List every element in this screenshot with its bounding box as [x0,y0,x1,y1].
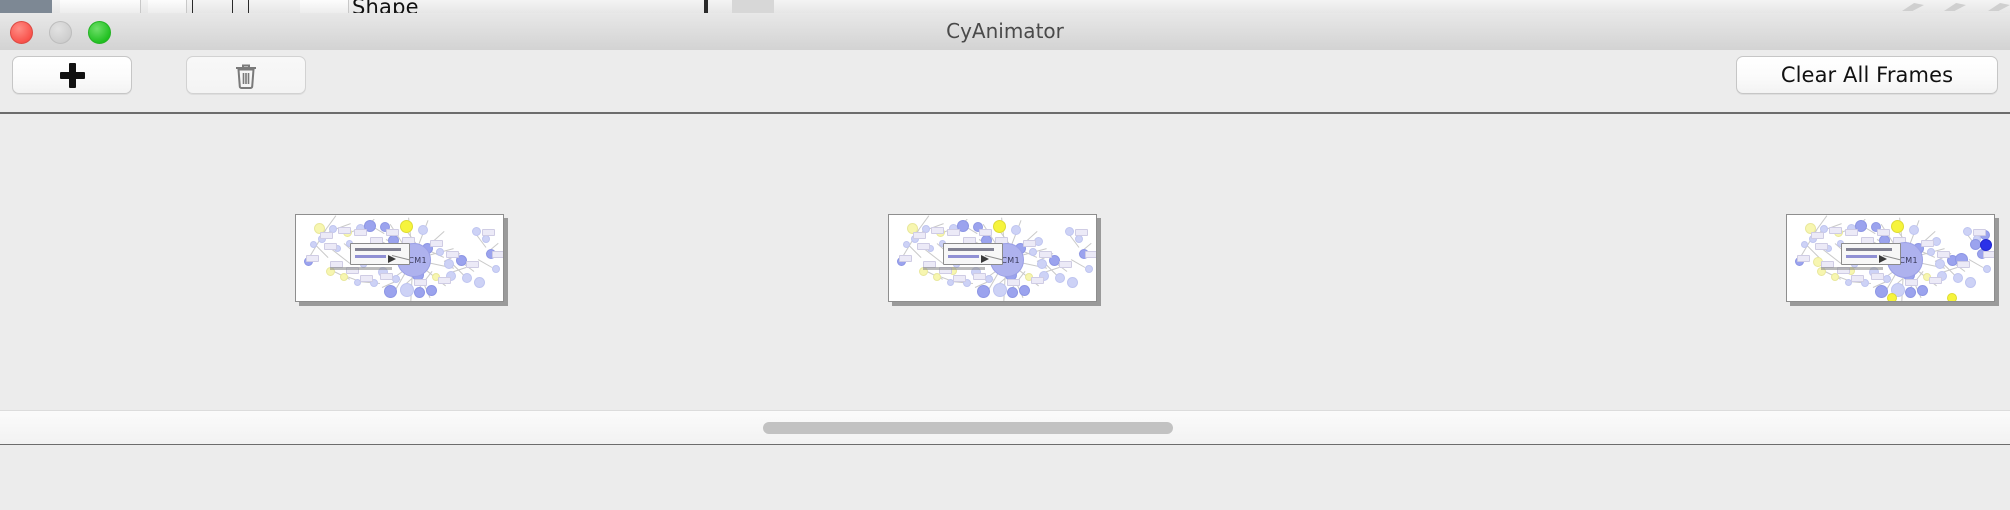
callout-text-line [355,248,401,251]
add-frame-button[interactable] [12,56,132,94]
network-node [993,283,1007,297]
timeline-scrollbar[interactable] [0,410,2010,446]
network-node-label [1039,251,1052,258]
background-window-cell [60,0,141,13]
network-node [474,277,485,288]
network-node-label [1983,251,1995,258]
network-node [1801,241,1808,248]
callout-text-line [355,255,386,258]
timeline-panel[interactable]: MCM1MCM1MCM1 2131415161718 Seconds [0,114,2010,410]
network-edge [478,259,492,268]
network-node-label [1059,261,1072,268]
background-window-cell [148,0,187,13]
network-node [1965,277,1976,288]
network-node [1085,265,1093,273]
network-node [985,275,993,283]
network-node-label [386,229,399,236]
chevron-icon [1902,3,1924,11]
plus-icon [60,63,85,88]
network-node [1011,225,1021,235]
network-node-label [466,261,479,268]
background-window-tick [232,0,233,13]
network-thumbnail-graph: MCM1 [296,215,503,301]
network-node-label [360,275,373,282]
network-thumbnail-graph: MCM1 [1787,215,1994,301]
network-node-label [953,275,966,282]
network-node-label [1007,279,1020,286]
network-node-label [899,255,912,262]
callout-text-line [1846,255,1877,258]
background-window-selected-cell [0,0,52,13]
network-node-label [931,227,944,234]
network-node [1909,225,1919,235]
background-window-blob [732,0,774,13]
keyframe-thumbnail[interactable]: MCM1 [1786,214,1995,302]
playback-bar: Animation Speed: [0,445,2010,510]
network-node-label [492,251,504,258]
network-node [1935,259,1945,269]
network-node-label [438,277,451,284]
network-node [472,227,481,236]
network-node [1065,227,1074,236]
background-window-label: Shape [352,0,419,14]
clear-all-frames-button[interactable]: Clear All Frames [1736,56,1998,94]
network-node [1029,248,1037,256]
network-node-label [1905,279,1918,286]
network-node [310,241,317,248]
chevron-icon [1988,3,2010,11]
network-node-label [430,240,443,247]
network-node-label [1921,240,1934,247]
callout-text-line [1846,248,1892,251]
network-node-label [917,243,930,250]
network-node [1887,293,1897,302]
network-node [400,220,413,233]
network-node [482,235,490,243]
network-node [1883,275,1891,283]
network-node-label [446,251,459,258]
network-node [400,283,414,297]
network-node-label [1957,261,1970,268]
callout-arrow-icon [1879,255,1887,263]
network-node-label [320,232,333,239]
network-node-label [1871,273,1884,280]
network-node-label [324,243,337,250]
network-node-label [1023,240,1036,247]
cyanimator-window: Shape CyAnimator Clear All Frames [0,0,2010,510]
network-callout [943,243,1003,265]
delete-frame-button[interactable] [186,56,306,94]
network-node-label [913,232,926,239]
network-edge [1071,259,1085,268]
network-annotation-text [923,267,985,270]
network-node-label [354,229,367,236]
network-node [1953,273,1963,283]
network-node-label [414,279,427,286]
network-node [384,285,397,298]
network-node [436,248,444,256]
network-node [1891,220,1904,233]
network-node [1983,265,1991,273]
network-node [1067,277,1078,288]
callout-arrow-icon [388,255,396,263]
network-node-label [1085,251,1097,258]
network-node [392,275,400,283]
network-node-label [1815,243,1828,250]
keyframe-thumbnail[interactable]: MCM1 [295,214,504,302]
network-node-label [482,229,495,236]
network-node-label [1797,255,1810,262]
network-node-label [1829,227,1842,234]
network-node [1075,235,1083,243]
network-node [1927,248,1935,256]
network-node [1055,273,1065,283]
maximize-button[interactable] [88,21,111,44]
network-node [340,273,348,281]
network-node-label [1811,232,1824,239]
network-annotation-text [330,267,392,270]
background-window-tick [192,0,193,13]
network-node-label [973,273,986,280]
title-bar: CyAnimator [0,13,2010,51]
network-node-label [1937,251,1950,258]
network-node-label [1851,275,1864,282]
network-node [1980,239,1992,251]
traffic-lights [10,21,111,44]
network-node-label [1075,229,1088,236]
clear-all-frames-label: Clear All Frames [1781,63,1953,87]
keyframe-thumbnail[interactable]: MCM1 [888,214,1097,302]
network-node [1963,227,1972,236]
network-node [414,287,425,298]
network-callout [350,243,410,265]
minimize-button[interactable] [49,21,72,44]
network-node [418,225,428,235]
network-node-label [979,229,992,236]
network-node-label [338,227,351,234]
close-button[interactable] [10,21,33,44]
callout-text-line [948,248,994,251]
chevron-icon [1944,3,1966,11]
network-node [492,265,500,273]
network-node [1875,285,1888,298]
network-node [933,273,941,281]
network-node-label [1877,229,1890,236]
trash-icon [234,62,258,89]
scrollbar-thumb[interactable] [763,422,1173,434]
network-node [1947,293,1957,302]
network-annotation-text [1821,267,1883,270]
callout-text-line [948,255,979,258]
network-node [444,259,454,269]
network-node [462,273,472,283]
network-node [426,285,437,296]
network-thumbnail-graph: MCM1 [889,215,1096,301]
network-callout [1841,243,1901,265]
network-node [1007,287,1018,298]
background-window-strip: Shape [0,0,2010,14]
background-window-tick [248,0,249,13]
network-node [1831,273,1839,281]
network-node [977,285,990,298]
network-node-label [1845,229,1858,236]
network-node [1905,287,1916,298]
network-node-label [306,255,319,262]
network-node [1019,285,1030,296]
network-node [993,220,1006,233]
network-node [903,241,910,248]
callout-arrow-icon [981,255,989,263]
network-node [1037,259,1047,269]
network-edge [1969,259,1983,268]
background-window-cell [300,0,349,13]
network-node-label [1973,229,1986,236]
network-node-label [947,229,960,236]
network-node-label [1031,277,1044,284]
network-node-label [1929,277,1942,284]
background-window-tick [704,0,708,13]
window-title: CyAnimator [0,13,2010,50]
network-node [1917,285,1928,296]
network-node-label [380,273,393,280]
